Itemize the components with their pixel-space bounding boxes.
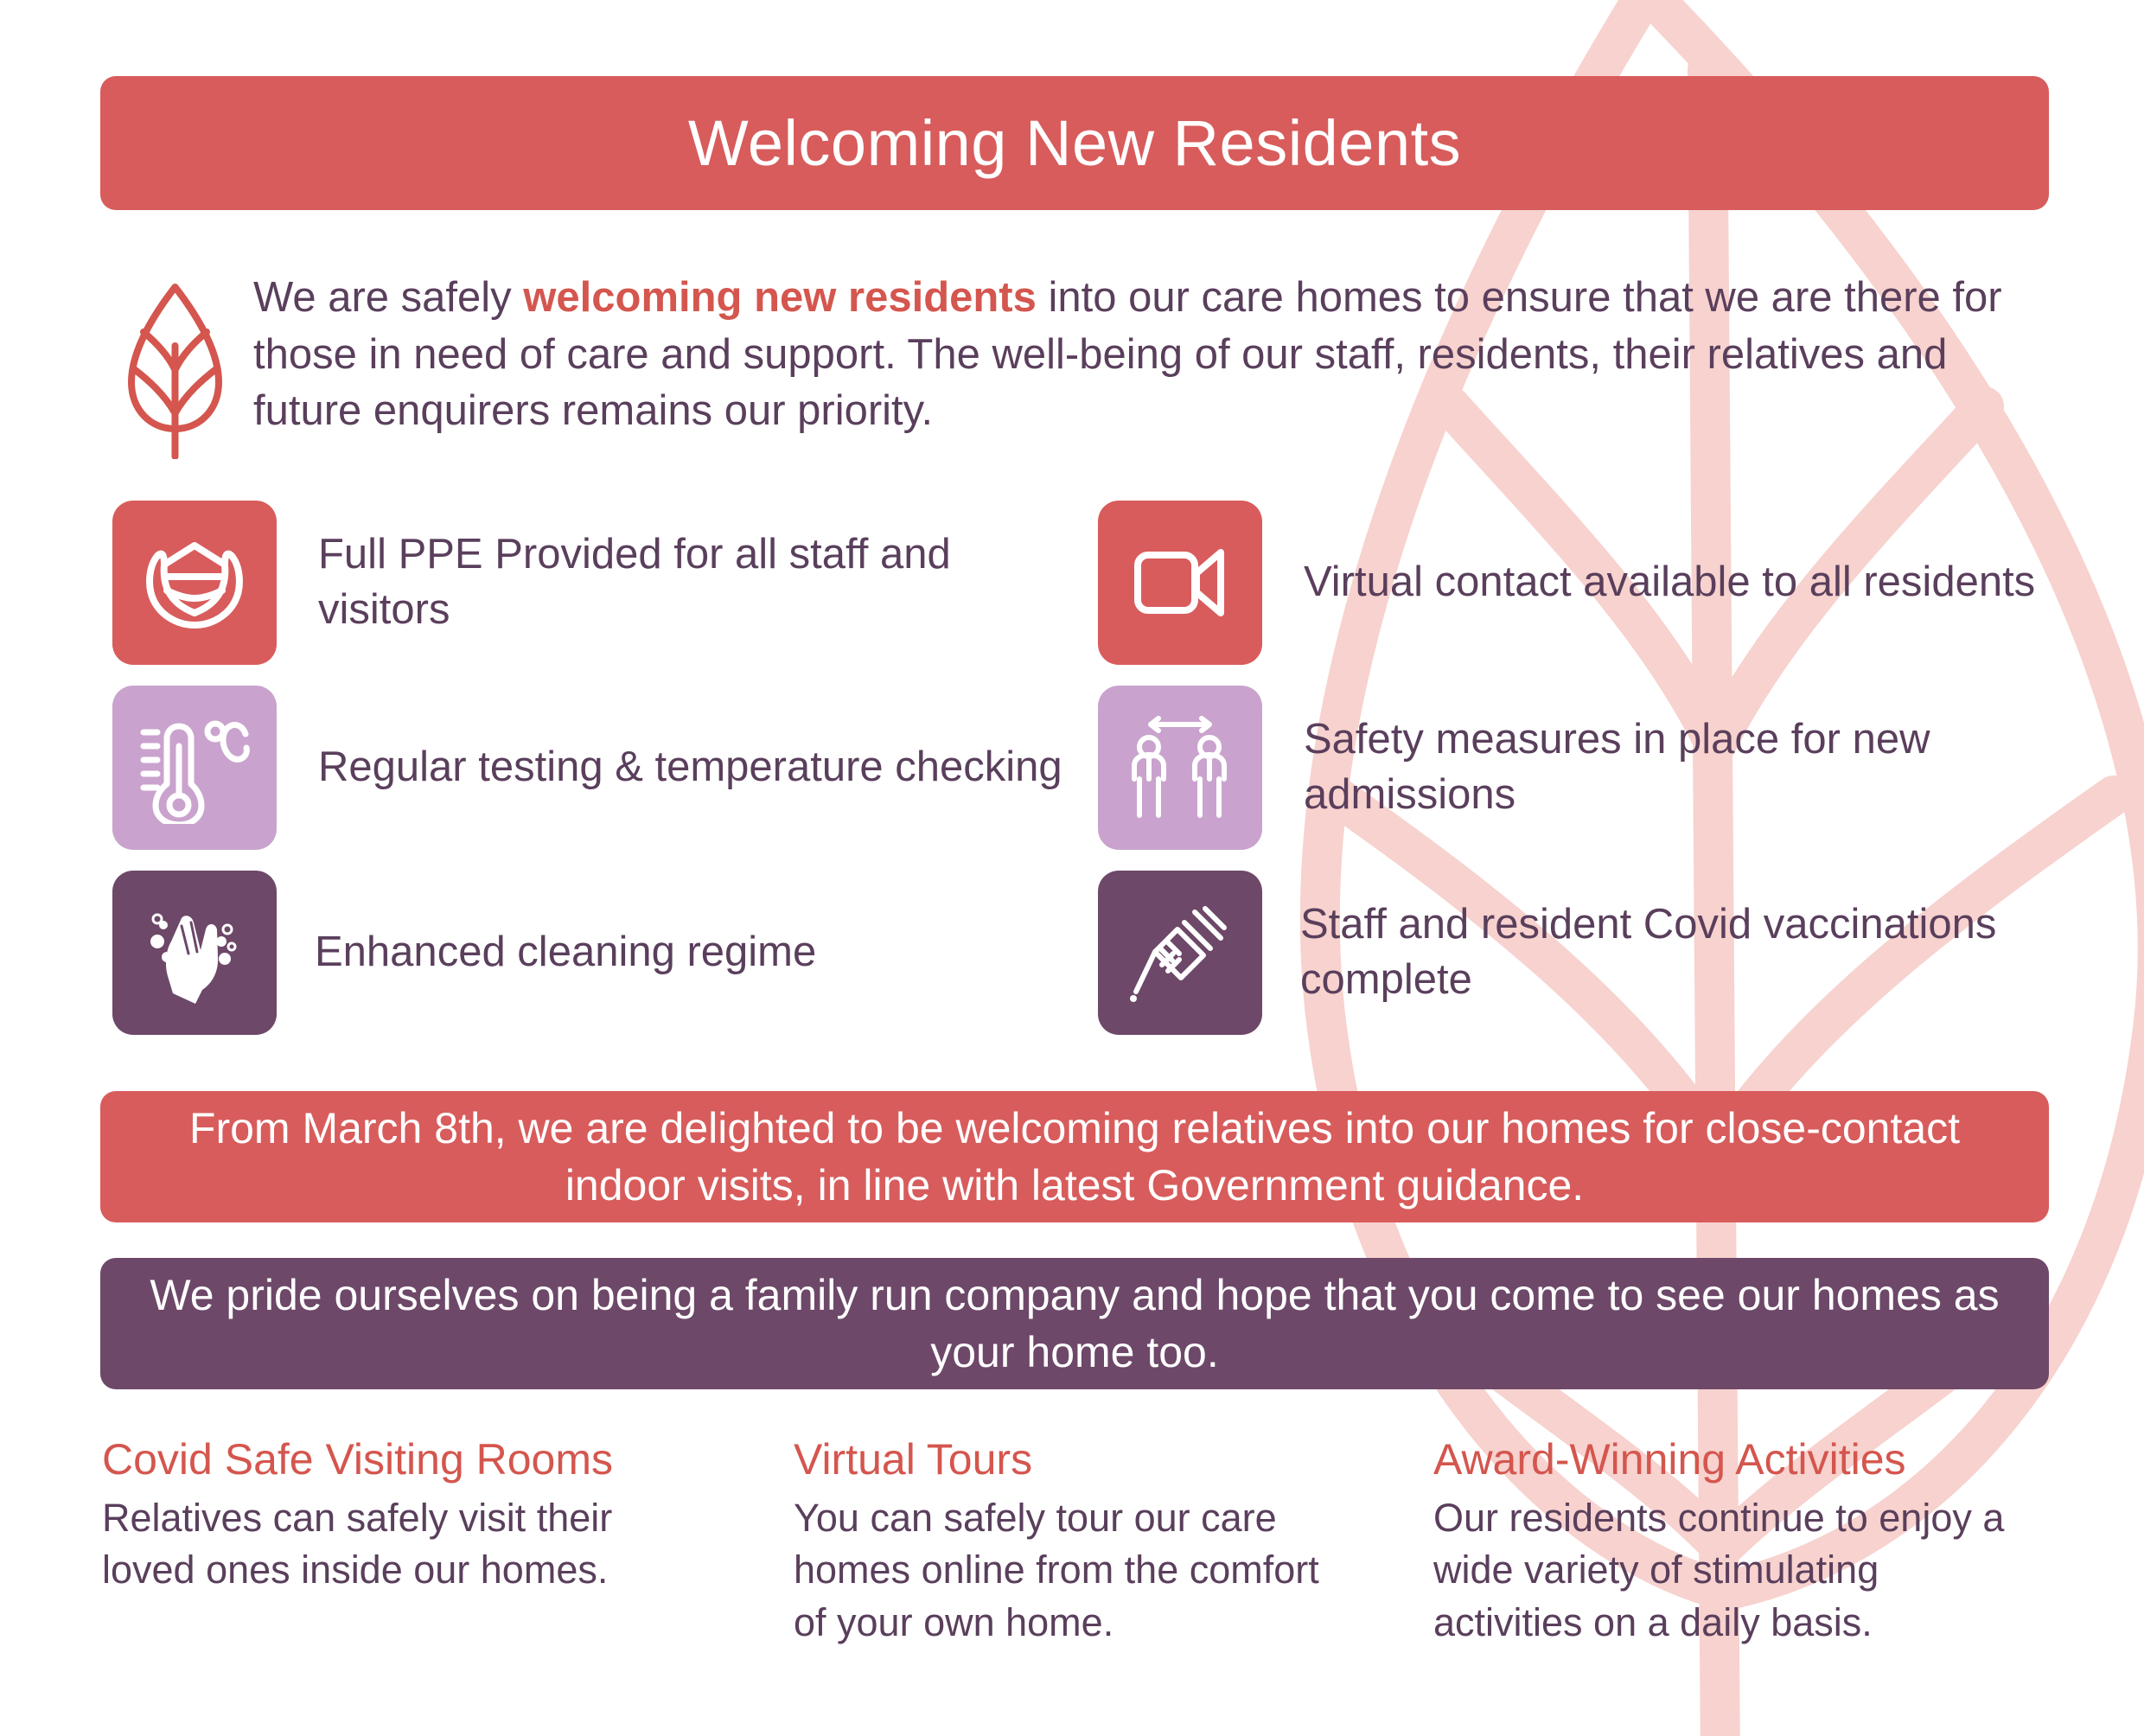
intro-paragraph: We are safely welcoming new residents in… bbox=[253, 270, 2039, 440]
column-virtual-tours: Virtual Tours You can safely tour our ca… bbox=[794, 1435, 1433, 1650]
thermometer-celsius-icon bbox=[112, 686, 277, 850]
announcement-banner-visits: From March 8th, we are delighted to be w… bbox=[100, 1091, 2049, 1222]
feature-item-ppe: Full PPE Provided for all staff and visi… bbox=[112, 500, 1072, 666]
header-banner: Welcoming New Residents bbox=[100, 76, 2049, 210]
banner-text: From March 8th, we are delighted to be w… bbox=[100, 1100, 2049, 1215]
intro-text-before: We are safely bbox=[253, 274, 523, 321]
feature-label: Full PPE Provided for all staff and visi… bbox=[318, 527, 1072, 637]
feature-item-virtual-contact: Virtual contact available to all residen… bbox=[1098, 500, 2058, 666]
announcement-banner-family: We pride ourselves on being a family run… bbox=[100, 1258, 2049, 1389]
feature-item-safety-measures: Safety measures in place for new admissi… bbox=[1098, 685, 2058, 851]
banner-text: We pride ourselves on being a family run… bbox=[100, 1267, 2049, 1382]
column-title: Award-Winning Activities bbox=[1433, 1435, 2056, 1485]
feature-item-vaccination: Staff and resident Covid vaccinations co… bbox=[1098, 870, 2058, 1036]
feature-item-cleaning: Enhanced cleaning regime bbox=[112, 870, 1072, 1036]
feature-label: Virtual contact available to all residen… bbox=[1304, 555, 2035, 610]
column-title: Covid Safe Visiting Rooms bbox=[102, 1435, 794, 1485]
column-body: Our residents continue to enjoy a wide v… bbox=[1433, 1492, 2039, 1650]
bottom-columns: Covid Safe Visiting Rooms Relatives can … bbox=[102, 1435, 2056, 1650]
feature-label: Enhanced cleaning regime bbox=[315, 925, 816, 980]
column-body: Relatives can safely visit their loved o… bbox=[102, 1492, 673, 1598]
leaf-icon bbox=[121, 273, 229, 459]
page-title: Welcoming New Residents bbox=[688, 112, 1461, 176]
hand-washing-icon bbox=[112, 871, 277, 1035]
social-distancing-icon bbox=[1098, 686, 1262, 850]
syringe-icon bbox=[1098, 871, 1262, 1035]
infographic-page: Welcoming New Residents We are safely we… bbox=[0, 0, 2144, 1736]
feature-grid: Full PPE Provided for all staff and visi… bbox=[112, 500, 2058, 1036]
column-visiting-rooms: Covid Safe Visiting Rooms Relatives can … bbox=[102, 1435, 794, 1650]
face-mask-icon bbox=[112, 501, 277, 665]
feature-label: Staff and resident Covid vaccinations co… bbox=[1300, 897, 2058, 1007]
video-camera-icon bbox=[1098, 501, 1262, 665]
feature-label: Regular testing & temperature checking bbox=[318, 740, 1062, 795]
feature-label: Safety measures in place for new admissi… bbox=[1304, 712, 2058, 822]
column-activities: Award-Winning Activities Our residents c… bbox=[1433, 1435, 2056, 1650]
column-title: Virtual Tours bbox=[794, 1435, 1433, 1485]
column-body: You can safely tour our care homes onlin… bbox=[794, 1492, 1338, 1650]
feature-item-testing: Regular testing & temperature checking bbox=[112, 685, 1072, 851]
intro-highlight: welcoming new residents bbox=[523, 274, 1037, 321]
intro-section: We are safely welcoming new residents in… bbox=[121, 270, 2049, 459]
